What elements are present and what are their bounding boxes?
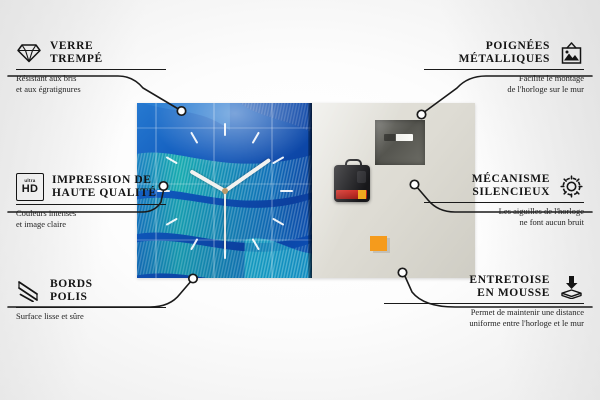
callout-desc-line2: ne font aucun bruit xyxy=(520,217,584,227)
metal-hanger-plate xyxy=(375,120,425,165)
callout-mecanisme-silencieux: MÉCANISME SILENCIEUX Les aiguilles de l'… xyxy=(424,173,584,227)
callout-desc-line1: Facilite le montage xyxy=(519,73,584,83)
callout-desc-line2: uniforme entre l'horloge et le mur xyxy=(469,318,584,328)
ultra-hd-icon: ultra HD xyxy=(16,173,44,201)
callout-title-line2: POLIS xyxy=(50,291,88,303)
callout-title-line1: IMPRESSION DE xyxy=(52,174,152,186)
callout-title-line1: POIGNÉES xyxy=(486,40,550,52)
callout-title-line1: MÉCANISME xyxy=(472,173,550,185)
callout-title-line1: VERRE xyxy=(50,40,93,52)
callout-divider xyxy=(16,204,166,205)
battery xyxy=(336,190,367,199)
callout-desc-line1: Résistant aux bris xyxy=(16,73,76,83)
gear-icon xyxy=(558,173,584,199)
hanger-slot xyxy=(384,134,413,141)
mechanism-dial xyxy=(357,171,366,183)
callout-desc-line2: de l'horloge sur le mur xyxy=(507,84,584,94)
callout-divider xyxy=(16,69,166,70)
ultra-hd-icon-big-text: HD xyxy=(22,184,39,195)
callout-desc-line1: Surface lisse et sûre xyxy=(16,311,84,321)
polished-edges-icon xyxy=(16,278,42,304)
callout-title-line1: ENTRETOISE xyxy=(469,274,550,286)
callout-desc-line1: Permet de maintenir une distance xyxy=(471,307,584,317)
callout-divider xyxy=(384,303,584,304)
callout-title-line2: SILENCIEUX xyxy=(472,186,550,198)
callout-divider xyxy=(424,202,584,203)
callout-desc-line1: Les aiguilles de l'horloge xyxy=(499,206,584,216)
callout-entretoise-en-mousse: ENTRETOISE EN MOUSSE Permet de maintenir… xyxy=(384,274,584,328)
clock-mechanism xyxy=(334,165,370,202)
callout-divider xyxy=(424,69,584,70)
callout-title-line2: MÉTALLIQUES xyxy=(459,53,550,65)
callout-title-line2: TREMPÉ xyxy=(50,53,103,65)
callout-bords-polis: BORDS POLIS Surface lisse et sûre xyxy=(16,278,166,322)
foam-spacer-pad xyxy=(370,236,387,251)
callout-impression-haute-qualite: ultra HD IMPRESSION DE HAUTE QUALITÉ Cou… xyxy=(16,173,166,229)
clock-second-hand xyxy=(224,191,226,249)
diamond-icon xyxy=(16,40,42,66)
callout-poignees-metalliques: POIGNÉES MÉTALLIQUES Facilite le montage… xyxy=(424,40,584,94)
foam-spacer-icon xyxy=(558,274,584,300)
callout-title-line2: EN MOUSSE xyxy=(477,287,550,299)
battery-plus-terminal xyxy=(358,190,366,199)
callout-divider xyxy=(16,307,166,308)
clock-center-hub xyxy=(222,188,228,194)
callout-desc-line2: et aux égratignures xyxy=(16,84,81,94)
callout-desc-line2: et image claire xyxy=(16,219,66,229)
picture-hanger-icon xyxy=(558,40,584,66)
mechanism-hook xyxy=(345,159,362,169)
callout-verre-trempe: VERRE TREMPÉ Résistant aux bris et aux é… xyxy=(16,40,166,94)
callout-title-line1: BORDS xyxy=(50,278,93,290)
callout-desc-line1: Couleurs intenses xyxy=(16,208,76,218)
callout-title-line2: HAUTE QUALITÉ xyxy=(52,187,157,199)
infographic-canvas: VERRE TREMPÉ Résistant aux bris et aux é… xyxy=(0,0,600,400)
